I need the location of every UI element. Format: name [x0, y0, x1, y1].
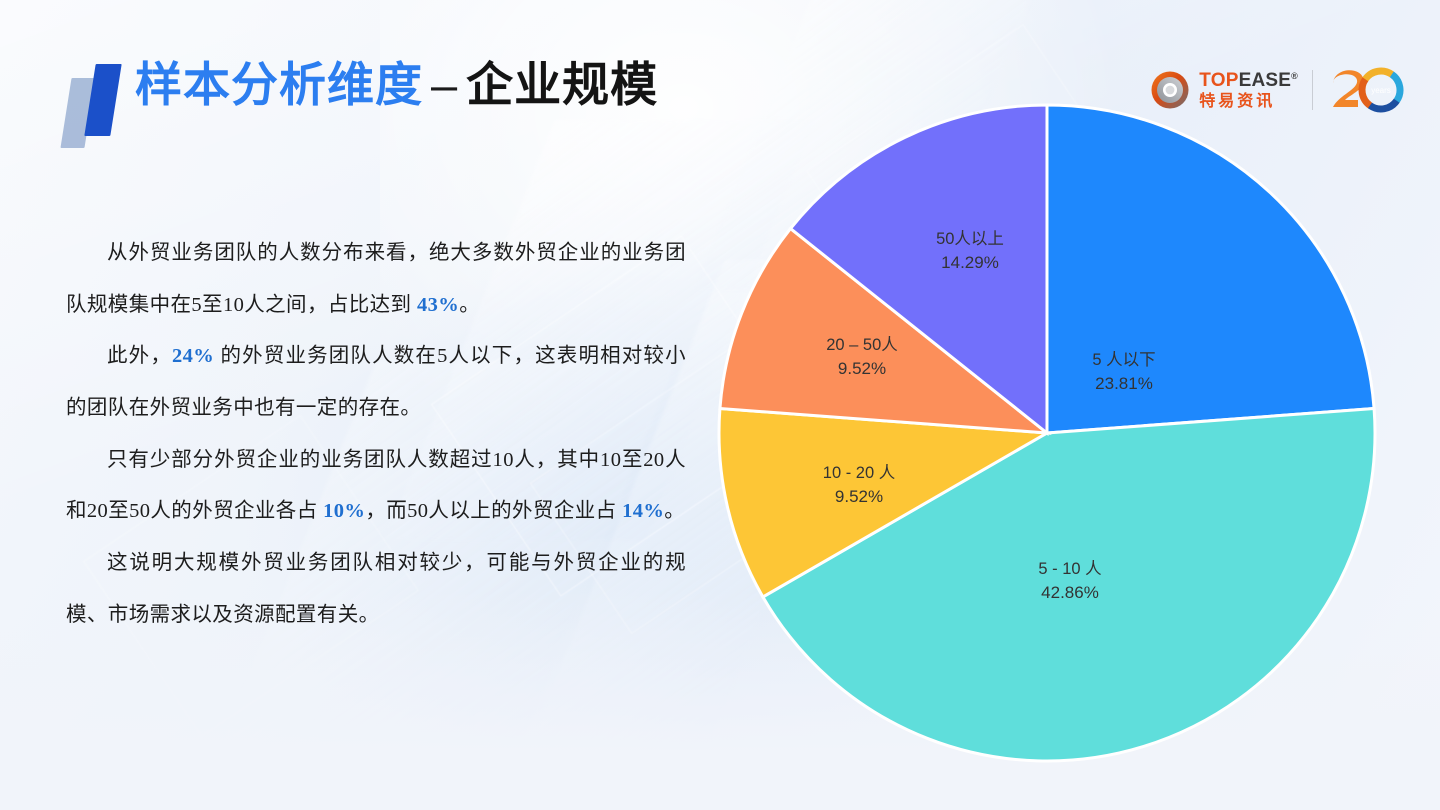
brand-name-ease: EASE	[1239, 71, 1292, 90]
body-text: ，而50人以上的外贸企业占	[365, 500, 622, 522]
body-highlight-value: 10%	[323, 500, 365, 522]
pie-slice-value-label: 14.29%	[941, 253, 999, 272]
brand-name-top: TOP	[1199, 71, 1238, 90]
page-title-rest: 企业规模	[466, 58, 658, 111]
body-text: 从外贸业务团队的人数分布来看，绝大多数外贸企业的业务团队规模集中在5至10人之间…	[66, 242, 686, 316]
body-text: 。	[459, 294, 480, 316]
page-title: 样本分析维度–企业规模	[135, 56, 658, 115]
body-text: 。	[664, 500, 685, 522]
page-title-dash: –	[423, 58, 466, 111]
pie-slice-category-label: 5 - 10 人	[1038, 559, 1101, 578]
pie-slice-value-label: 23.81%	[1095, 374, 1153, 393]
slide-canvas: 样本分析维度–企业规模	[0, 0, 1440, 810]
body-highlight-value: 24%	[172, 345, 214, 367]
title-accent-icon	[64, 58, 142, 150]
body-paragraph: 只有少部分外贸企业的业务团队人数超过10人，其中10至20人和20至50人的外贸…	[66, 435, 686, 538]
body-highlight-value: 43%	[417, 294, 459, 316]
pie-slice-value-label: 9.52%	[835, 487, 883, 506]
body-paragraph: 从外贸业务团队的人数分布来看，绝大多数外贸企业的业务团队规模集中在5至10人之间…	[66, 228, 686, 331]
body-highlight-value: 14%	[622, 500, 664, 522]
body-paragraph: 这说明大规模外贸业务团队相对较少，可能与外贸企业的规模、市场需求以及资源配置有关…	[66, 538, 686, 641]
pie-chart-svg: 5 人以下23.81%5 - 10 人42.86%10 - 20 人9.52%2…	[717, 103, 1377, 763]
pie-slice-category-label: 5 人以下	[1092, 350, 1155, 369]
pie-slice-category-label: 50人以上	[936, 229, 1004, 248]
page-title-highlight: 样本分析维度	[135, 58, 423, 111]
pie-slice-category-label: 20 – 50人	[826, 335, 898, 354]
brand-registered-mark: ®	[1291, 72, 1298, 81]
body-copy: 从外贸业务团队的人数分布来看，绝大多数外贸企业的业务团队规模集中在5至10人之间…	[66, 228, 686, 641]
body-text: 这说明大规模外贸业务团队相对较少，可能与外贸企业的规模、市场需求以及资源配置有关…	[66, 552, 686, 626]
pie-slice-value-label: 42.86%	[1041, 583, 1099, 602]
pie-slice-category-label: 10 - 20 人	[823, 463, 895, 482]
pie-slices	[719, 105, 1375, 761]
brand-name-en: TOPEASE®	[1199, 71, 1298, 90]
accent-bar-front	[84, 64, 121, 136]
pie-chart: 5 人以下23.81%5 - 10 人42.86%10 - 20 人9.52%2…	[717, 103, 1377, 763]
body-paragraph: 此外，24% 的外贸业务团队人数在5人以下，这表明相对较小的团队在外贸业务中也有…	[66, 331, 686, 434]
body-text: 此外，	[107, 345, 172, 367]
anniversary-years-label: years	[1371, 86, 1391, 95]
pie-slice-value-label: 9.52%	[838, 359, 886, 378]
